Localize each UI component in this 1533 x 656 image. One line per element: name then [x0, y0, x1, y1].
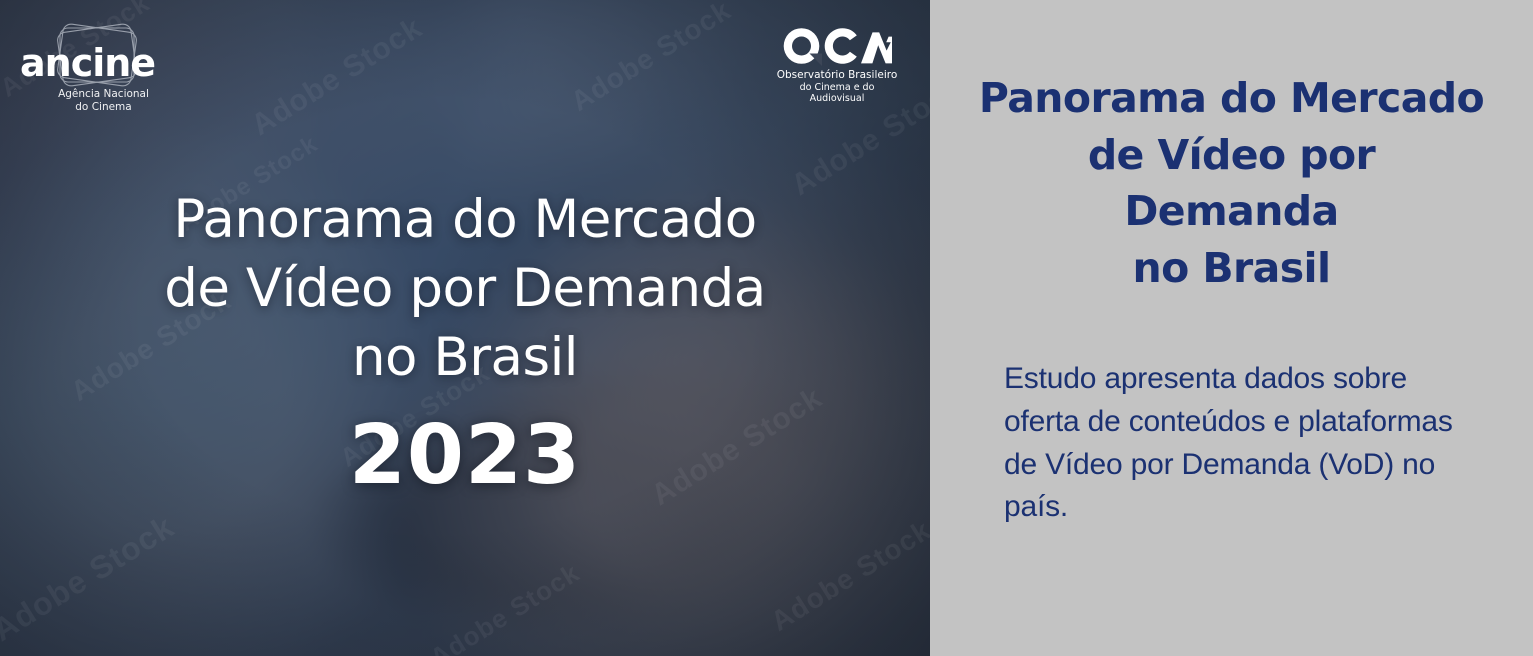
ancine-tagline-line1: Agência Nacional	[46, 88, 161, 101]
oca-subtitle-line2: do Cinema e do Audiovisual	[776, 82, 898, 105]
hero-title-line3: no Brasil	[80, 324, 850, 393]
hero-text-block: Panorama do Mercado de Vídeo por Demanda…	[0, 186, 930, 497]
info-description: Estudo apresenta dados sobre oferta de c…	[978, 358, 1485, 528]
info-title: Panorama do Mercado de Vídeo por Demanda…	[978, 70, 1485, 296]
stock-watermark: Adobe Stock	[565, 0, 736, 118]
ancine-tagline: Agência Nacional do Cinema	[46, 88, 161, 114]
stock-watermark: Adobe Stock	[765, 514, 930, 638]
stock-watermark: Adobe Stock	[425, 557, 586, 656]
stock-watermark: Adobe Stock	[0, 508, 181, 649]
info-title-line1: Panorama do Mercado	[979, 74, 1484, 122]
ancine-tagline-line2: do Cinema	[46, 101, 161, 114]
oca-subtitle-line1: Observatório Brasileiro	[776, 69, 898, 82]
hero-year: 2023	[80, 415, 850, 497]
oca-logo: Observatório Brasileiro do Cinema e do A…	[776, 26, 898, 105]
hero-panel: Adobe Stock Adobe Stock Adobe Stock Adob…	[0, 0, 930, 656]
ancine-wordmark: ancine	[20, 44, 155, 82]
ancine-logo: ancine Agência Nacional do Cinema	[18, 22, 158, 114]
hero-title: Panorama do Mercado de Vídeo por Demanda…	[80, 186, 850, 393]
slide-root: Adobe Stock Adobe Stock Adobe Stock Adob…	[0, 0, 1533, 656]
oca-mark-icon	[782, 26, 892, 66]
stock-watermark: Adobe Stock	[246, 11, 429, 143]
hero-title-line1: Panorama do Mercado	[80, 186, 850, 255]
hero-title-line2: de Vídeo por Demanda	[80, 255, 850, 324]
info-title-line3: no Brasil	[1133, 244, 1331, 292]
info-panel: Panorama do Mercado de Vídeo por Demanda…	[930, 0, 1533, 656]
info-title-line2: de Vídeo por Demanda	[1088, 131, 1375, 236]
